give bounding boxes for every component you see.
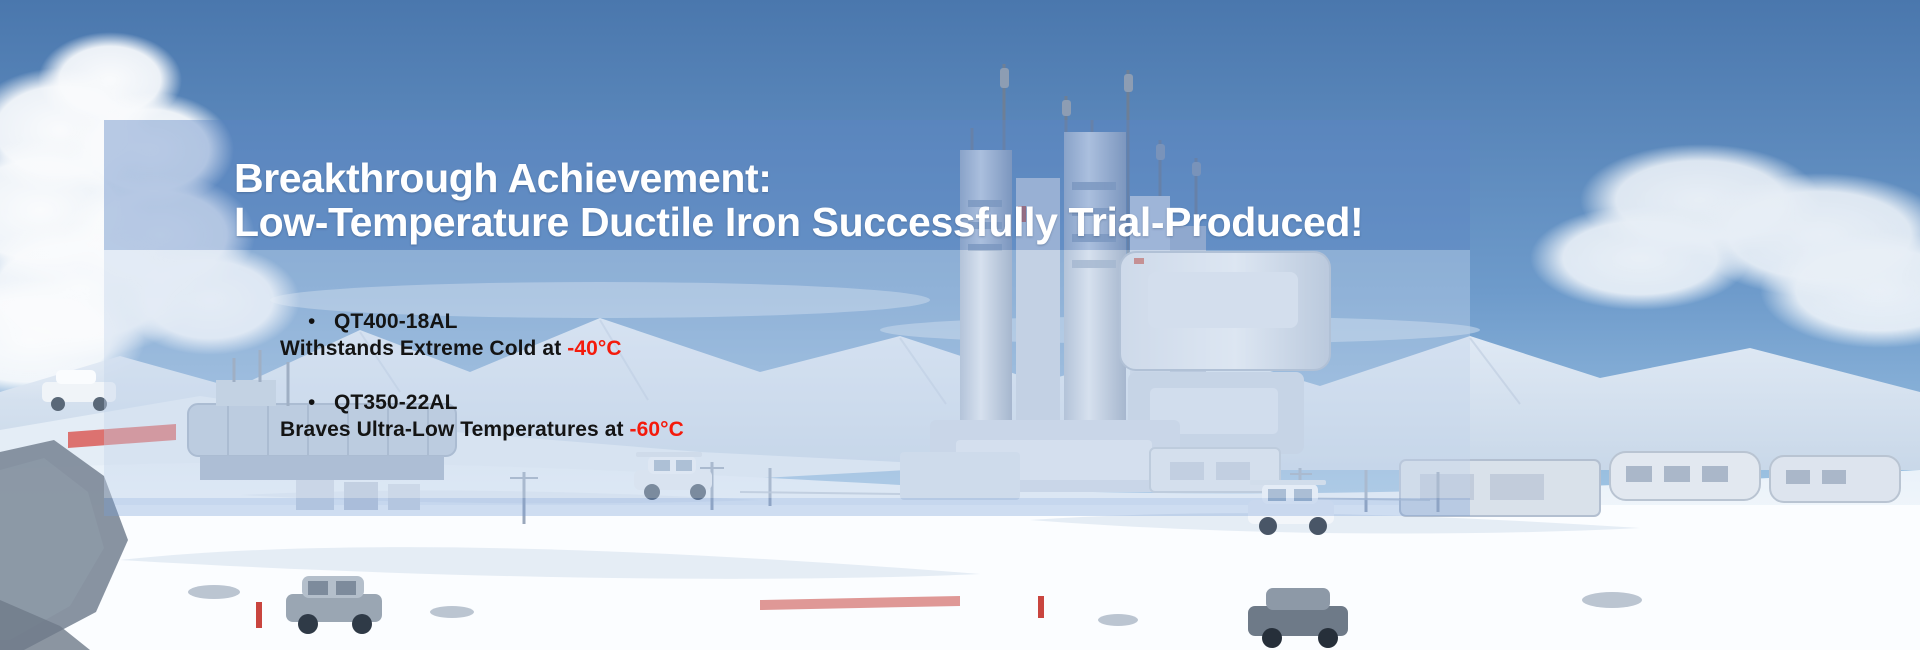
feature-list: • QT400-18AL Withstands Extreme Cold at … — [280, 310, 1380, 442]
headline-line-2: Low-Temperature Ductile Iron Successfull… — [234, 200, 1534, 244]
footer-band — [104, 498, 1470, 516]
feature-description-text: Braves Ultra-Low Temperatures at — [280, 418, 630, 441]
feature-code-row: • QT350-22AL — [280, 391, 1380, 415]
bullet-dot-icon: • — [308, 311, 334, 332]
headline-line-1: Breakthrough Achievement: — [234, 156, 1534, 200]
material-grade: QT350-22AL — [334, 391, 458, 415]
feature-description: Withstands Extreme Cold at -40°C — [280, 337, 1380, 361]
feature-item: • QT400-18AL Withstands Extreme Cold at … — [280, 310, 1380, 361]
temperature-value: -40°C — [567, 337, 621, 360]
temperature-value: -60°C — [630, 418, 684, 441]
bullet-dot-icon: • — [308, 392, 334, 413]
feature-item: • QT350-22AL Braves Ultra-Low Temperatur… — [280, 391, 1380, 442]
material-grade: QT400-18AL — [334, 310, 458, 334]
feature-code-row: • QT400-18AL — [280, 310, 1380, 334]
headline: Breakthrough Achievement: Low-Temperatur… — [234, 156, 1534, 245]
feature-description: Braves Ultra-Low Temperatures at -60°C — [280, 418, 1380, 442]
feature-description-text: Withstands Extreme Cold at — [280, 337, 567, 360]
promo-banner: Breakthrough Achievement: Low-Temperatur… — [0, 0, 1920, 650]
content-overlay-panel: Breakthrough Achievement: Low-Temperatur… — [104, 120, 1470, 516]
